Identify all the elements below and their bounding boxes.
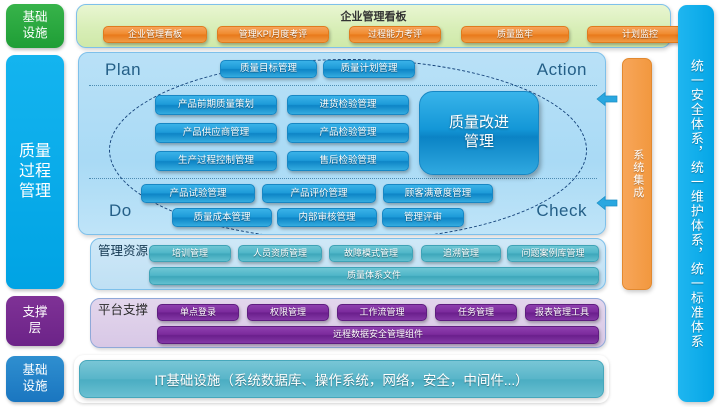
resource-side-label-left: 管理 bbox=[98, 245, 123, 259]
sidebar-item-label: 基础 设施 bbox=[22, 10, 47, 41]
diagram-root: 基础 设施 质量 过程 管理 支撑 层 基础 设施 企业管理看板 企业管理看板 … bbox=[0, 0, 719, 407]
integration-arrow-bottom-icon bbox=[596, 196, 618, 210]
kanban-button-1[interactable]: 管理KPI月度考评 bbox=[217, 26, 329, 43]
support-platform-side-label: 支撑 平台 bbox=[98, 304, 148, 318]
support-button-3[interactable]: 任务管理 bbox=[435, 304, 517, 321]
pdca-panel: Plan Action Do Check 质量目标管理 质量计划管理 产品前期质… bbox=[78, 52, 606, 235]
system-integration-bar[interactable]: 系统集成 bbox=[622, 58, 652, 290]
support-side-label-left: 平台 bbox=[98, 304, 123, 318]
resource-management-panel: 资源 管理 培训管理 人员资质管理 故障模式管理 追溯管理 问题案例库管理 质量… bbox=[90, 238, 606, 290]
resource-management-side-label: 资源 管理 bbox=[98, 245, 148, 259]
pdca-col-mid-2[interactable]: 售后检验管理 bbox=[287, 151, 409, 171]
resource-button-0[interactable]: 培训管理 bbox=[149, 245, 231, 262]
kanban-button-3[interactable]: 质量监牢 bbox=[461, 26, 569, 43]
unified-systems-label: 统一安全体系，统一维护体系，统一标准体系 bbox=[689, 59, 703, 349]
support-button-2[interactable]: 工作流管理 bbox=[337, 304, 427, 321]
sidebar-item-infrastructure-bottom[interactable]: 基础 设施 bbox=[6, 356, 64, 402]
it-infrastructure-label: IT基础设施（系统数据库、操作系统，网络，安全，中间件...） bbox=[154, 369, 528, 389]
sidebar-item-label: 质量 过程 管理 bbox=[19, 142, 51, 202]
resource-button-4[interactable]: 问题案例库管理 bbox=[507, 245, 599, 262]
pdca-do-row2-0[interactable]: 质量成本管理 bbox=[172, 208, 272, 227]
pdca-do-row2-1[interactable]: 内部审核管理 bbox=[277, 208, 377, 227]
kanban-title: 企业管理看板 bbox=[77, 8, 670, 24]
sidebar-item-support-layer[interactable]: 支撑 层 bbox=[6, 296, 64, 346]
pdca-top-0[interactable]: 质量目标管理 bbox=[220, 60, 317, 78]
support-wide-button[interactable]: 远程数据安全管理组件 bbox=[157, 326, 599, 344]
pdca-label-plan: Plan bbox=[105, 60, 141, 80]
resource-button-1[interactable]: 人员资质管理 bbox=[238, 245, 322, 262]
pdca-col-left-0[interactable]: 产品前期质量策划 bbox=[155, 95, 277, 115]
it-infrastructure-wrap: IT基础设施（系统数据库、操作系统，网络，安全，中间件...） bbox=[74, 355, 609, 403]
it-infrastructure-bar[interactable]: IT基础设施（系统数据库、操作系统，网络，安全，中间件...） bbox=[79, 360, 604, 398]
kanban-button-2[interactable]: 过程能力考评 bbox=[349, 26, 441, 43]
pdca-do-row1-0[interactable]: 产品试验管理 bbox=[141, 184, 255, 203]
quality-improvement-label: 质量改进 管理 bbox=[449, 114, 509, 152]
pdca-do-row1-1[interactable]: 产品评价管理 bbox=[262, 184, 376, 203]
resource-button-2[interactable]: 故障模式管理 bbox=[329, 245, 413, 262]
sidebar-item-label: 基础 设施 bbox=[22, 363, 47, 394]
pdca-top-1[interactable]: 质量计划管理 bbox=[323, 60, 415, 78]
pdca-divider-bottom bbox=[89, 178, 597, 179]
sidebar-item-quality-process-management[interactable]: 质量 过程 管理 bbox=[6, 55, 64, 289]
enterprise-kanban-panel: 企业管理看板 企业管理看板 管理KPI月度考评 过程能力考评 质量监牢 计划监控 bbox=[76, 4, 671, 48]
pdca-col-left-1[interactable]: 产品供应商管理 bbox=[155, 123, 277, 143]
resource-side-label-right: 资源 bbox=[123, 245, 148, 259]
pdca-col-mid-1[interactable]: 产品检验管理 bbox=[287, 123, 409, 143]
quality-improvement-management-box[interactable]: 质量改进 管理 bbox=[419, 91, 539, 175]
support-button-4[interactable]: 报表管理工具 bbox=[525, 304, 599, 321]
sidebar-item-label: 支撑 层 bbox=[22, 305, 47, 336]
resource-wide-button[interactable]: 质量体系文件 bbox=[149, 267, 599, 285]
support-button-1[interactable]: 权限管理 bbox=[247, 304, 329, 321]
support-side-label-right: 支撑 bbox=[123, 304, 148, 318]
system-integration-label: 系统集成 bbox=[631, 149, 643, 199]
pdca-col-mid-0[interactable]: 进货检验管理 bbox=[287, 95, 409, 115]
pdca-label-action: Action bbox=[537, 60, 587, 80]
support-platform-panel: 支撑 平台 单点登录 权限管理 工作流管理 任务管理 报表管理工具 远程数据安全… bbox=[90, 298, 606, 348]
kanban-button-0[interactable]: 企业管理看板 bbox=[103, 26, 207, 43]
pdca-label-check: Check bbox=[536, 201, 587, 221]
pdca-label-do: Do bbox=[109, 201, 132, 221]
unified-systems-bar[interactable]: 统一安全体系，统一维护体系，统一标准体系 bbox=[678, 5, 714, 402]
pdca-col-left-2[interactable]: 生产过程控制管理 bbox=[155, 151, 277, 171]
sidebar-item-infrastructure-top[interactable]: 基础 设施 bbox=[6, 4, 64, 48]
pdca-do-row2-2[interactable]: 管理评审 bbox=[382, 208, 464, 227]
integration-arrow-top-icon bbox=[596, 92, 618, 106]
pdca-do-row1-2[interactable]: 顾客满意度管理 bbox=[383, 184, 493, 203]
pdca-divider-top bbox=[89, 85, 597, 86]
resource-button-3[interactable]: 追溯管理 bbox=[421, 245, 501, 262]
support-button-0[interactable]: 单点登录 bbox=[157, 304, 239, 321]
